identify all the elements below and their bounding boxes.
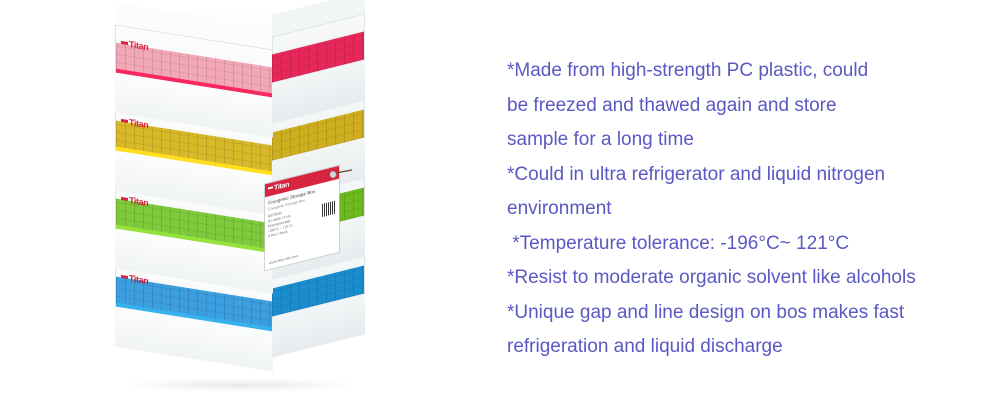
product-drop-shadow xyxy=(120,378,360,392)
brand-mark-icon xyxy=(121,119,128,123)
brand-mark-icon xyxy=(121,275,128,279)
box-shell-blue xyxy=(115,311,365,357)
cryo-box-stack: Titan Titan xyxy=(115,25,365,390)
feature-line: *Could in ultra refrigerator and liquid … xyxy=(507,158,977,193)
product-feature-page: Titan Titan xyxy=(0,0,1000,411)
feature-line: *Made from high-strength PC plastic, cou… xyxy=(507,54,977,89)
box-shell-pink xyxy=(115,77,365,123)
brand-mark-icon xyxy=(268,186,273,189)
label-pin-icon xyxy=(327,169,353,179)
feature-line: refrigeration and liquid discharge xyxy=(507,330,977,365)
product-image: Titan Titan xyxy=(0,0,470,411)
brand-mark-icon xyxy=(121,41,128,45)
feature-line: *Resist to moderate organic solvent like… xyxy=(507,261,977,296)
feature-line: environment xyxy=(507,192,977,227)
cryo-box-pink: Titan xyxy=(115,25,365,125)
label-brand: Titan xyxy=(274,181,289,192)
shell-front xyxy=(115,306,273,371)
brand-mark-icon xyxy=(121,197,128,201)
feature-line: sample for a long time xyxy=(507,123,977,158)
feature-line: *Temperature tolerance: -196°C~ 121°C xyxy=(507,227,977,262)
feature-line: *Unique gap and line design on bos makes… xyxy=(507,296,977,331)
feature-list: *Made from high-strength PC plastic, cou… xyxy=(507,54,977,365)
feature-line: be freezed and thawed again and store xyxy=(507,89,977,124)
